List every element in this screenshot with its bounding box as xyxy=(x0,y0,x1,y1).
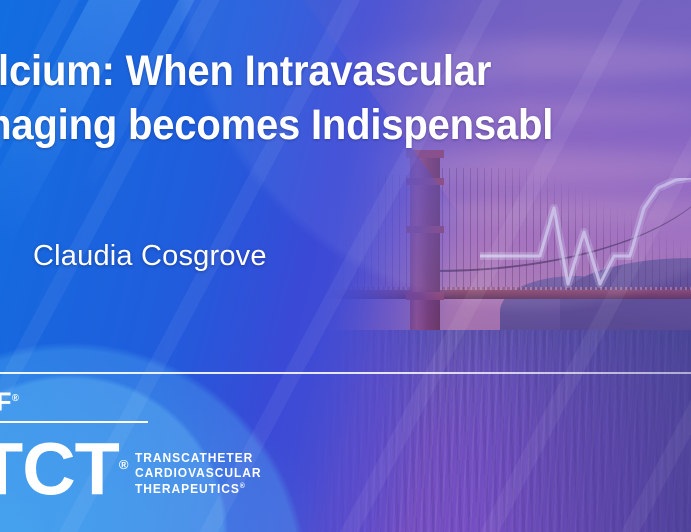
registered-mark-icon: ® xyxy=(12,393,19,404)
tct-subtitle: TRANSCATHETER CARDIOVASCULAR THERAPEUTIC… xyxy=(135,451,262,497)
tct-logo-row: TCT® TRANSCATHETER CARDIOVASCULAR THERAP… xyxy=(0,428,267,507)
tct-subtitle-line-3-wrap: THERAPEUTICS® xyxy=(135,480,262,497)
tct-wordmark: TCT® xyxy=(0,428,127,507)
tct-text: TCT xyxy=(0,428,119,511)
tct-subtitle-line-3: THERAPEUTICS xyxy=(135,482,240,496)
slide-title-line-2: maging becomes Indispensabl xyxy=(0,98,664,152)
tct-subtitle-line-2: CARDIOVASCULAR xyxy=(135,466,262,481)
logo-rule-divider xyxy=(0,421,148,423)
registered-mark-icon: ® xyxy=(240,483,246,490)
crf-text: RF xyxy=(0,387,12,417)
slide-title: alcium: When Intravascular maging become… xyxy=(0,44,664,152)
crf-tct-logo-lockup: RF® TCT® TRANSCATHETER CARDIOVASCULAR TH… xyxy=(0,386,22,415)
presentation-slide: alcium: When Intravascular maging become… xyxy=(0,0,691,532)
horizontal-divider xyxy=(0,372,691,374)
registered-mark-icon: ® xyxy=(119,457,128,472)
crf-wordmark: RF® xyxy=(0,386,19,415)
slide-title-line-1: alcium: When Intravascular xyxy=(0,44,664,98)
tct-subtitle-line-1: TRANSCATHETER xyxy=(135,451,262,466)
speaker-name: Claudia Cosgrove xyxy=(33,240,267,273)
